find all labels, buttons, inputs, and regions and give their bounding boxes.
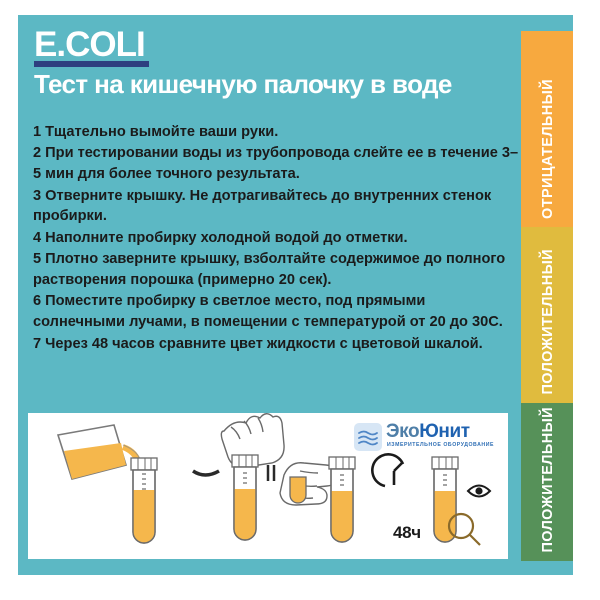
beaker-pour-icon bbox=[58, 425, 142, 479]
list-item: 2 При тестировании воды из трубопровода … bbox=[33, 143, 520, 185]
scale-band-negative: ОТРИЦАТЕЛЬНЫЙ bbox=[521, 31, 573, 227]
test-tube-icon bbox=[329, 457, 355, 542]
list-item: 1 Тщательно вымойте ваши руки. bbox=[33, 122, 520, 143]
company-logo: ЭкоЮнит ИЗМЕРИТЕЛЬНОЕ ОБОРУДОВАНИЕ bbox=[354, 421, 504, 457]
clock-icon bbox=[372, 454, 403, 486]
scale-band-positive-green: ПОЛОЖИТЕЛЬНЫЙ bbox=[521, 403, 573, 561]
list-item: 6 Поместите пробирку в светлое место, по… bbox=[33, 291, 520, 333]
poster-card: E.COLI Тест на кишечную палочку в воде 1… bbox=[18, 15, 573, 575]
logo-wordmark: ЭкоЮнит bbox=[386, 421, 470, 443]
logo-name-part1: Эко bbox=[386, 421, 419, 442]
color-scale: ОТРИЦАТЕЛЬНЫЙ ПОЛОЖИТЕЛЬНЫЙ ПОЛОЖИТЕЛЬНЫ… bbox=[521, 31, 573, 561]
list-item: 5 Плотно заверните крышку, взболтайте со… bbox=[33, 249, 520, 291]
logo-name-part2: Юнит bbox=[419, 421, 469, 442]
page-title: Тест на кишечную палочку в воде bbox=[34, 71, 514, 98]
list-item: 4 Наполните пробирку холодной водой до о… bbox=[33, 228, 520, 249]
brand-title: E.COLI bbox=[34, 28, 149, 67]
arrow-icon bbox=[193, 471, 219, 475]
wave-icon bbox=[354, 423, 382, 451]
shake-arrows-icon bbox=[268, 465, 274, 481]
scale-band-label: ПОЛОЖИТЕЛЬНЫЙ bbox=[540, 407, 556, 553]
test-tube-icon bbox=[290, 477, 306, 503]
test-tube-icon bbox=[432, 457, 458, 542]
logo-tagline: ИЗМЕРИТЕЛЬНОЕ ОБОРУДОВАНИЕ bbox=[387, 442, 494, 448]
brand-header: E.COLI bbox=[34, 28, 504, 67]
instruction-list: 1 Тщательно вымойте ваши руки. 2 При тес… bbox=[33, 122, 520, 355]
scale-band-positive-yellow: ПОЛОЖИТЕЛЬНЫЙ bbox=[521, 227, 573, 403]
list-item: 7 Через 48 часов сравните цвет жидкости … bbox=[33, 334, 520, 355]
scale-band-label: ПОЛОЖИТЕЛЬНЫЙ bbox=[540, 249, 556, 395]
scale-band-label: ОТРИЦАТЕЛЬНЫЙ bbox=[540, 79, 556, 219]
illustration-panel: ЭкоЮнит ИЗМЕРИТЕЛЬНОЕ ОБОРУДОВАНИЕ 48ч bbox=[28, 413, 508, 559]
test-tube-icon bbox=[131, 458, 157, 543]
wave-glyph bbox=[354, 423, 382, 451]
eye-icon bbox=[468, 486, 490, 497]
time-label: 48ч bbox=[393, 523, 421, 543]
test-tube-icon bbox=[232, 455, 258, 540]
list-item: 3 Отверните крышку. Не дотрагивайтесь до… bbox=[33, 186, 520, 228]
